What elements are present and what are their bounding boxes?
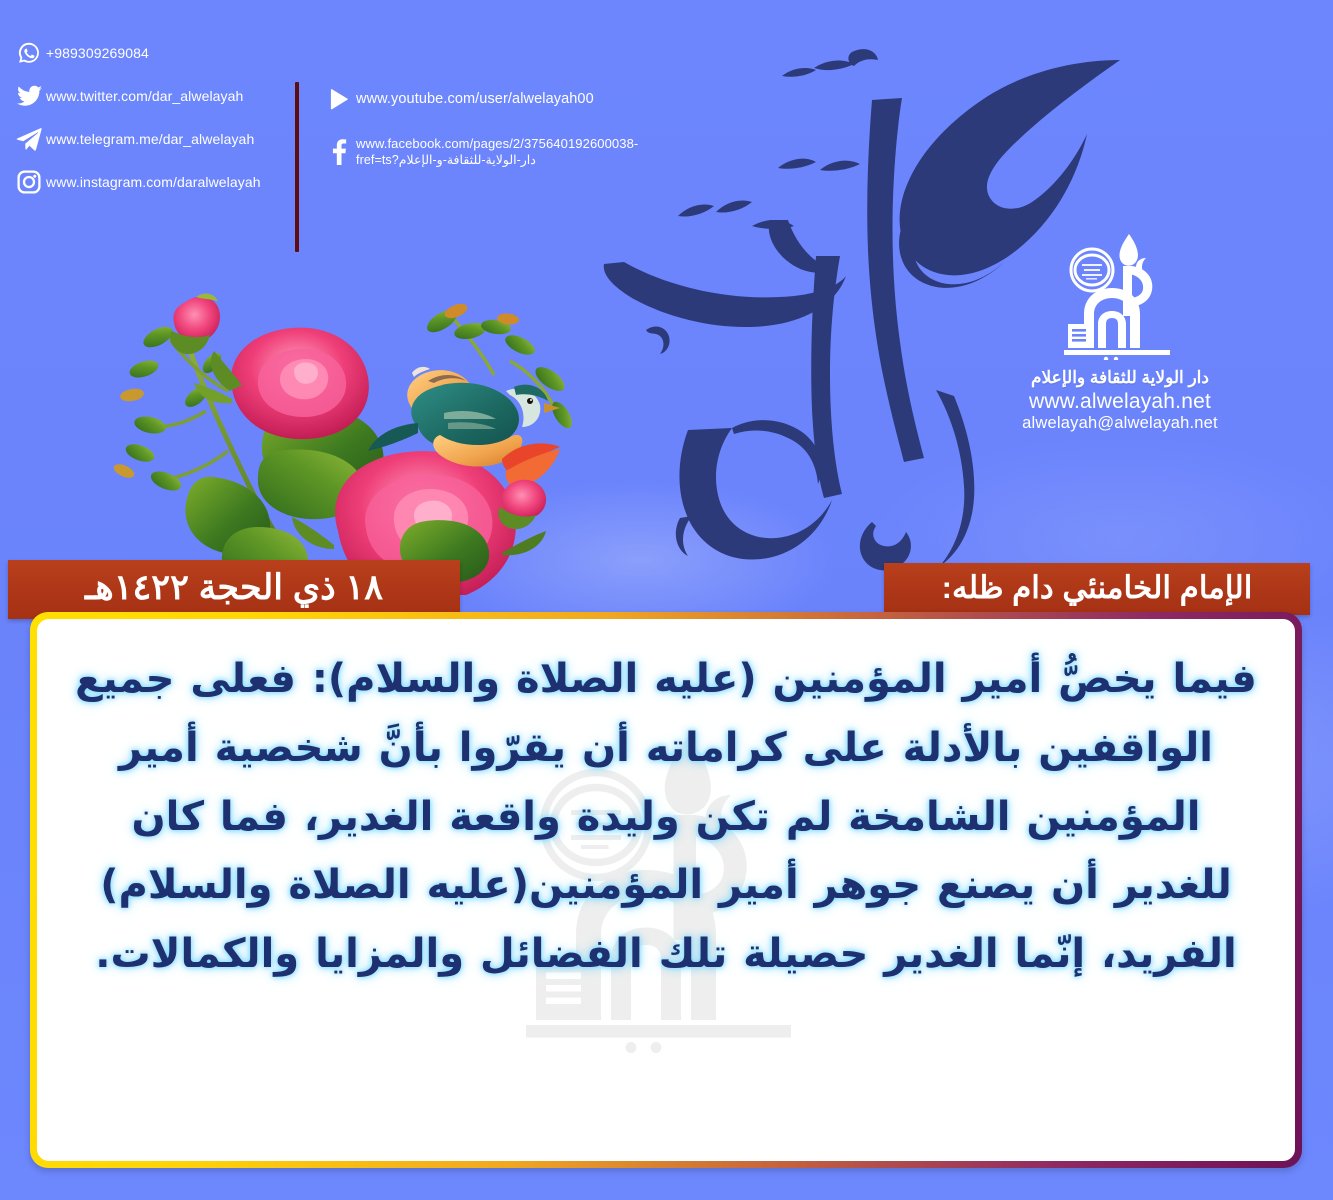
poster: +989309269084 www.twitter.com/dar_alwela… — [0, 0, 1333, 1200]
facebook-sub-url: دار-الولاية-للثقافة-و-الإعلام?fref=ts — [356, 152, 638, 167]
quote-card: فيما يخصُّ أمير المؤمنين (عليه الصلاة وا… — [37, 619, 1295, 1161]
facebook-url: www.facebook.com/pages/2/375640192600038… — [356, 136, 638, 151]
brand-name: دار الولاية للثقافة والإعلام — [995, 368, 1245, 388]
flower-and-bird-painting — [110, 275, 610, 595]
brand-website[interactable]: www.alwelayah.net — [995, 390, 1245, 414]
instagram-label: www.instagram.com/daralwelayah — [46, 174, 261, 190]
quote-card-frame: فيما يخصُّ أمير المؤمنين (عليه الصلاة وا… — [30, 612, 1302, 1168]
date-banner-text: ١٨ ذي الحجة ١٤٢٢هـ — [85, 568, 383, 608]
youtube-icon — [322, 87, 356, 111]
quote-text: فيما يخصُّ أمير المؤمنين (عليه الصلاة وا… — [37, 619, 1295, 989]
date-banner: ١٨ ذي الحجة ١٤٢٢هـ — [8, 560, 460, 619]
social-row-twitter[interactable]: www.twitter.com/dar_alwelayah — [12, 83, 292, 109]
social-row-whatsapp[interactable]: +989309269084 — [12, 40, 292, 66]
social-row-youtube[interactable]: www.youtube.com/user/alwelayah00 — [322, 86, 722, 112]
instagram-icon — [12, 170, 46, 194]
twitter-label: www.twitter.com/dar_alwelayah — [46, 88, 243, 104]
social-column-divider — [295, 82, 299, 252]
brand-email[interactable]: alwelayah@alwelayah.net — [995, 414, 1245, 434]
alwelayah-logo — [1060, 232, 1180, 360]
social-row-facebook[interactable]: www.facebook.com/pages/2/375640192600038… — [322, 136, 722, 167]
social-links: +989309269084 www.twitter.com/dar_alwela… — [0, 36, 720, 226]
twitter-icon — [12, 85, 46, 107]
social-column-left: +989309269084 www.twitter.com/dar_alwela… — [12, 40, 292, 212]
social-row-telegram[interactable]: www.telegram.me/dar_alwelayah — [12, 126, 292, 152]
brand-block: دار الولاية للثقافة والإعلام www.alwelay… — [995, 232, 1245, 433]
whatsapp-icon — [12, 41, 46, 65]
speaker-banner-text: الإمام الخامنئي دام ظله: — [942, 570, 1253, 606]
telegram-label: www.telegram.me/dar_alwelayah — [46, 131, 254, 147]
telegram-icon — [12, 127, 46, 151]
social-column-right: www.youtube.com/user/alwelayah00 www.fac… — [322, 86, 722, 191]
facebook-label: www.facebook.com/pages/2/375640192600038… — [356, 136, 638, 167]
whatsapp-label: +989309269084 — [46, 45, 149, 61]
facebook-icon — [322, 139, 356, 165]
speaker-banner: الإمام الخامنئي دام ظله: — [884, 563, 1310, 615]
social-row-instagram[interactable]: www.instagram.com/daralwelayah — [12, 169, 292, 195]
youtube-label: www.youtube.com/user/alwelayah00 — [356, 91, 594, 107]
